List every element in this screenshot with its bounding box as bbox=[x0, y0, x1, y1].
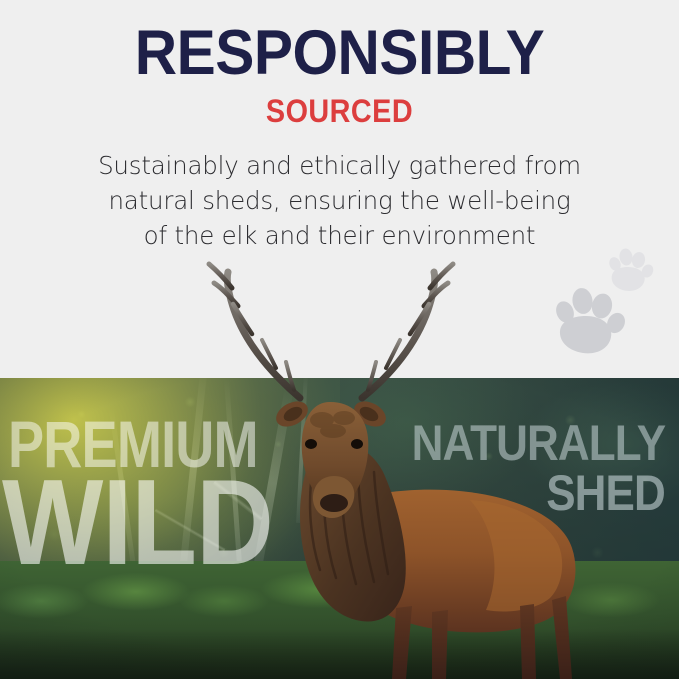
headline-block: RESPONSIBLY SOURCED bbox=[0, 18, 679, 130]
top-text-panel: RESPONSIBLY SOURCED Sustainably and ethi… bbox=[0, 0, 679, 378]
overlay-text-naturally: NATURALLY bbox=[411, 420, 665, 466]
paw-print-icon bbox=[606, 245, 656, 294]
body-copy-line-1: Sustainably and ethically gathered from bbox=[40, 148, 639, 183]
body-copy-line-3: of the elk and their environment bbox=[40, 218, 639, 253]
page-subtitle: SOURCED bbox=[34, 92, 645, 130]
elk-photo: PREMIUM WILD NATURALLY SHED bbox=[0, 378, 679, 679]
body-copy: Sustainably and ethically gathered from … bbox=[40, 148, 639, 253]
page-title: RESPONSIBLY bbox=[24, 18, 655, 88]
body-copy-line-2: natural sheds, ensuring the well-being bbox=[40, 183, 639, 218]
product-feature-card: RESPONSIBLY SOURCED Sustainably and ethi… bbox=[0, 0, 679, 679]
overlay-text-shed: SHED bbox=[546, 470, 665, 516]
overlay-text-wild: WILD bbox=[2, 466, 273, 578]
